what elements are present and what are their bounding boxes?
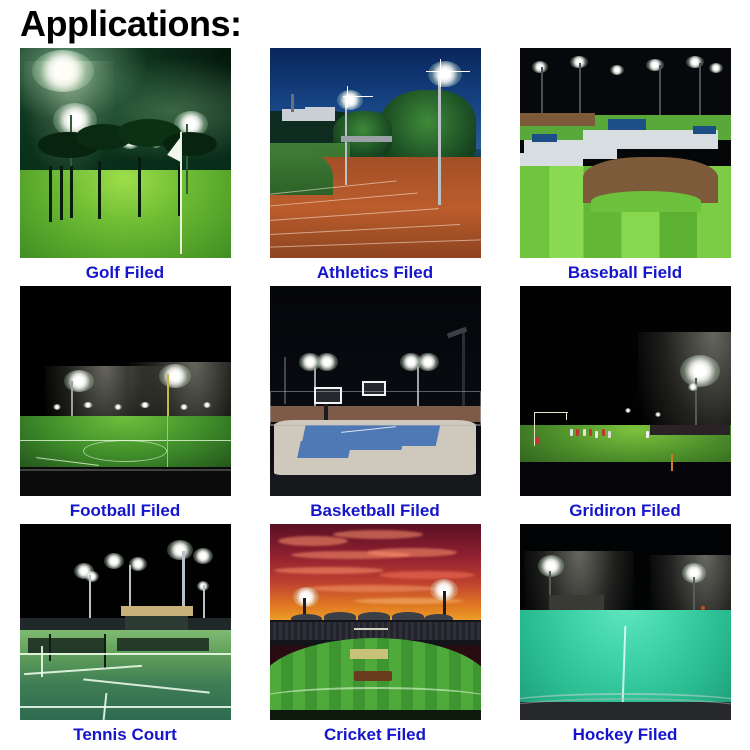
application-item-golf[interactable]: Golf Filed [0,48,250,286]
caption-gridiron: Gridiron Filed [500,496,750,524]
caption-baseball: Baseball Field [500,258,750,286]
golf-field-night-photo [20,48,231,258]
applications-page: Applications: [0,0,750,750]
page-title: Applications: [20,2,242,46]
caption-basketball: Basketball Filed [250,496,500,524]
baseball-field-night-photo [520,48,731,258]
caption-hockey: Hockey Filed [500,720,750,748]
caption-golf: Golf Filed [0,258,250,286]
basketball-court-night-photo [270,286,481,496]
applications-grid: Golf Filed [0,48,750,748]
application-item-football[interactable]: Football Filed [0,286,250,524]
athletics-track-night-photo [270,48,481,258]
cricket-ground-sunset-photo [270,524,481,720]
grid-row: Football Filed [0,286,750,524]
caption-football: Football Filed [0,496,250,524]
football-pitch-night-photo [20,286,231,496]
application-item-athletics[interactable]: Athletics Filed [250,48,500,286]
caption-athletics: Athletics Filed [250,258,500,286]
application-item-baseball[interactable]: Baseball Field [500,48,750,286]
grid-row: Golf Filed [0,48,750,286]
hockey-pitch-night-photo [520,524,731,720]
application-item-basketball[interactable]: Basketball Filed [250,286,500,524]
tennis-court-night-photo [20,524,231,720]
caption-cricket: Cricket Filed [250,720,500,748]
application-item-gridiron[interactable]: Gridiron Filed [500,286,750,524]
grid-row: Tennis Court [0,524,750,748]
application-item-tennis[interactable]: Tennis Court [0,524,250,748]
application-item-hockey[interactable]: Hockey Filed [500,524,750,748]
gridiron-field-night-photo [520,286,731,496]
caption-tennis: Tennis Court [0,720,250,748]
application-item-cricket[interactable]: Cricket Filed [250,524,500,748]
